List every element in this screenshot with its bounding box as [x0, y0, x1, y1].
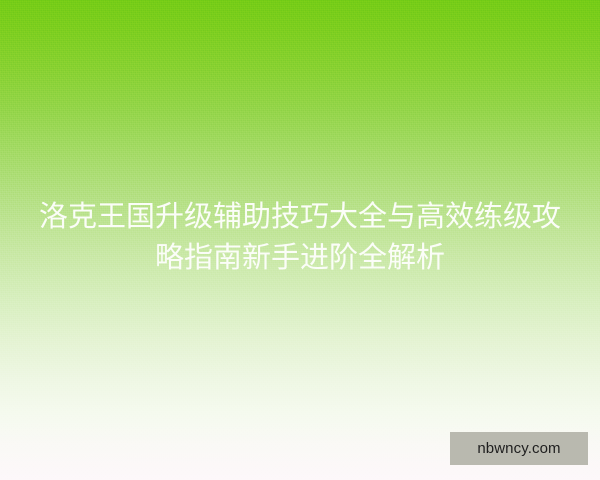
watermark-label: nbwncy.com [477, 441, 560, 456]
watermark-badge: nbwncy.com [450, 432, 588, 465]
page-title-line-1: 洛克王国升级辅助技巧大全与高效练级攻 [20, 196, 580, 237]
title-card: 洛克王国升级辅助技巧大全与高效练级攻 略指南新手进阶全解析 nbwncy.com [0, 0, 600, 480]
page-title: 洛克王国升级辅助技巧大全与高效练级攻 略指南新手进阶全解析 [0, 196, 600, 278]
page-title-line-2: 略指南新手进阶全解析 [20, 237, 580, 278]
